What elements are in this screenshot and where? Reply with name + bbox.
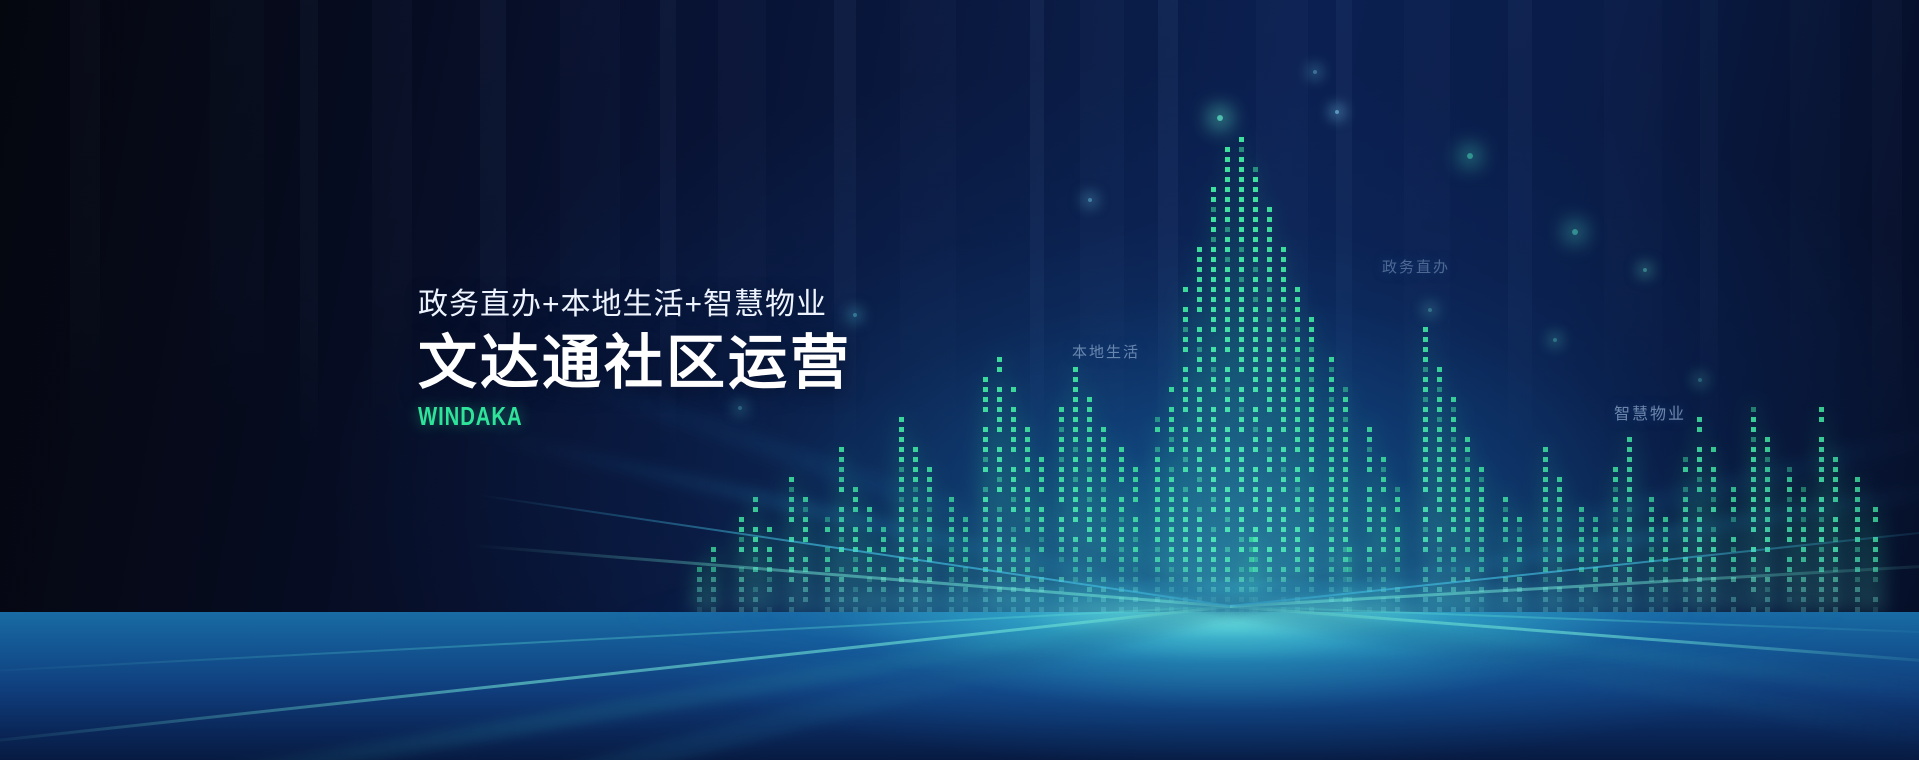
building-dot <box>1211 197 1216 202</box>
building-dot <box>1329 507 1334 512</box>
building-dot <box>1169 507 1174 512</box>
building-dot <box>1011 427 1016 432</box>
building-dot <box>1437 567 1442 572</box>
building-dot <box>1087 507 1092 512</box>
building-dot <box>1697 567 1702 572</box>
building-dot <box>1329 497 1334 502</box>
building-dot <box>1697 527 1702 532</box>
building-dot <box>1101 487 1106 492</box>
building-dot <box>997 527 1002 532</box>
building-dot <box>1543 527 1548 532</box>
building-dot <box>1451 517 1456 522</box>
building-dot <box>1451 497 1456 502</box>
building-dot <box>1451 467 1456 472</box>
building-dot <box>1751 557 1756 562</box>
building-dot <box>1801 537 1806 542</box>
building-dot <box>1253 327 1258 332</box>
building-dot <box>1239 397 1244 402</box>
building-dot <box>1281 467 1286 472</box>
building-dot <box>1059 467 1064 472</box>
building-dot <box>853 547 858 552</box>
building-dot <box>1059 557 1064 562</box>
building-dot <box>1697 457 1702 462</box>
building-dot <box>1267 317 1272 322</box>
building-dot <box>913 547 918 552</box>
building-dot <box>1329 427 1334 432</box>
building-dot <box>997 517 1002 522</box>
building-dot <box>1225 547 1230 552</box>
building-dot <box>1819 527 1824 532</box>
building-dot <box>1451 527 1456 532</box>
building-dot <box>1479 477 1484 482</box>
building-dot <box>767 557 772 562</box>
building-dot <box>1437 467 1442 472</box>
building-dot <box>867 567 872 572</box>
building-dot <box>1239 447 1244 452</box>
building-dot <box>1225 207 1230 212</box>
building-dot <box>1503 557 1508 562</box>
building-dot <box>1765 497 1770 502</box>
building-dot <box>1465 537 1470 542</box>
building-dot <box>927 547 932 552</box>
building-dot <box>1249 557 1254 562</box>
building-dot <box>1087 457 1092 462</box>
building-dot <box>1751 547 1756 552</box>
building-dot <box>1155 467 1160 472</box>
building-dot <box>1169 557 1174 562</box>
building-dot <box>1423 507 1428 512</box>
building-dot <box>1649 527 1654 532</box>
building-dot <box>1183 487 1188 492</box>
building-dot <box>1249 537 1254 542</box>
building-dot <box>983 497 988 502</box>
building-dot <box>997 457 1002 462</box>
building-dot <box>1329 417 1334 422</box>
building-dot <box>1613 517 1618 522</box>
building-dot <box>803 507 808 512</box>
building-dot <box>1329 447 1334 452</box>
building-dot <box>1239 247 1244 252</box>
building-dot <box>1169 417 1174 422</box>
building-dot <box>1543 537 1548 542</box>
building-dot <box>1367 457 1372 462</box>
building-dot <box>1295 367 1300 372</box>
building-dot <box>913 517 918 522</box>
building-dot <box>1437 487 1442 492</box>
building-dot <box>1731 497 1736 502</box>
building-dot <box>1225 557 1230 562</box>
building-dot <box>1819 517 1824 522</box>
building-dot <box>1423 377 1428 382</box>
building-dot <box>1731 487 1736 492</box>
building-dot <box>739 517 744 522</box>
building-dot <box>1073 517 1078 522</box>
building-dot <box>853 537 858 542</box>
building-dot <box>1169 467 1174 472</box>
building-dot <box>1183 307 1188 312</box>
building-dot <box>1267 207 1272 212</box>
building-dot <box>1239 267 1244 272</box>
building-dot <box>1211 497 1216 502</box>
building-dot <box>1267 357 1272 362</box>
building-dot <box>1697 417 1702 422</box>
building-dot <box>1267 527 1272 532</box>
building-dot <box>1557 537 1562 542</box>
building-dot <box>1101 477 1106 482</box>
building-dot <box>1343 417 1348 422</box>
building-dot <box>1649 567 1654 572</box>
building-dot <box>1225 157 1230 162</box>
building-dot <box>1295 417 1300 422</box>
building-dot <box>1011 497 1016 502</box>
building-dot <box>1239 187 1244 192</box>
building-dot <box>927 477 932 482</box>
building-dot <box>1025 497 1030 502</box>
building-dot <box>1073 467 1078 472</box>
building-dot <box>1253 447 1258 452</box>
building-dot <box>899 497 904 502</box>
building-dot <box>1239 147 1244 152</box>
building-dot <box>1517 527 1522 532</box>
building-dot <box>825 557 830 562</box>
building-dot <box>1503 567 1508 572</box>
building-dot <box>1025 457 1030 462</box>
building-dot <box>1663 547 1668 552</box>
building-dot <box>1329 487 1334 492</box>
building-dot <box>1731 557 1736 562</box>
building-dot <box>1039 467 1044 472</box>
building-dot <box>1011 557 1016 562</box>
building-dot <box>1329 527 1334 532</box>
building-dot <box>1267 237 1272 242</box>
building-dot <box>803 497 808 502</box>
building-dot <box>753 547 758 552</box>
building-dot <box>1465 457 1470 462</box>
building-dot <box>1211 427 1216 432</box>
building-dot <box>1253 177 1258 182</box>
building-dot <box>1627 487 1632 492</box>
building-dot <box>1367 487 1372 492</box>
building-dot <box>1819 507 1824 512</box>
building-dot <box>1267 227 1272 232</box>
building-dot <box>1711 467 1716 472</box>
headline-block: 政务直办+本地生活+智慧物业 文达通社区运营 WINDAKA <box>418 290 852 429</box>
building-dot <box>1295 547 1300 552</box>
building-dot <box>1267 437 1272 442</box>
building-dot <box>1613 547 1618 552</box>
building-dot <box>949 537 954 542</box>
building-dot <box>1613 507 1618 512</box>
building-dot <box>1627 437 1632 442</box>
building-dot <box>1011 527 1016 532</box>
building-dot <box>1211 317 1216 322</box>
building-dot <box>1225 397 1230 402</box>
tower-dot-column <box>1306 312 1318 612</box>
building-dot <box>963 537 968 542</box>
building-dot <box>1073 437 1078 442</box>
building-dot <box>1253 207 1258 212</box>
building-dot <box>1833 557 1838 562</box>
building-dot <box>1119 517 1124 522</box>
building-dot <box>1819 457 1824 462</box>
building-dot <box>1343 477 1348 482</box>
tower-dot-column <box>1292 282 1304 612</box>
building-dot <box>739 537 744 542</box>
building-dot <box>1197 407 1202 412</box>
building-dot <box>983 427 988 432</box>
building-dot <box>1329 467 1334 472</box>
building-dot <box>997 357 1002 362</box>
building-dot <box>1801 557 1806 562</box>
building-dot <box>1465 437 1470 442</box>
building-dot <box>1101 547 1106 552</box>
building-dot <box>1697 427 1702 432</box>
building-dot <box>1281 507 1286 512</box>
building-dot <box>839 537 844 542</box>
building-dot <box>1039 457 1044 462</box>
building-dot <box>1039 477 1044 482</box>
building-dot <box>1683 497 1688 502</box>
building-dot <box>1731 507 1736 512</box>
building-dot <box>1517 537 1522 542</box>
building-dot <box>1239 417 1244 422</box>
building-dot <box>825 517 830 522</box>
building-dot <box>1039 507 1044 512</box>
building-dot <box>1557 527 1562 532</box>
tower-dot-column <box>1420 326 1432 612</box>
building-dot <box>1309 467 1314 472</box>
building-dot <box>1101 537 1106 542</box>
building-dot <box>1073 447 1078 452</box>
building-dot <box>1059 517 1064 522</box>
building-dot <box>1267 557 1272 562</box>
building-dot <box>1239 427 1244 432</box>
building-dot <box>1557 547 1562 552</box>
building-dot <box>1267 427 1272 432</box>
building-dot <box>1787 497 1792 502</box>
building-dot <box>1663 557 1668 562</box>
building-dot <box>1711 537 1716 542</box>
building-dot <box>1367 437 1372 442</box>
building-dot <box>1465 567 1470 572</box>
building-dot <box>1819 467 1824 472</box>
building-dot <box>1281 247 1286 252</box>
building-dot <box>1239 217 1244 222</box>
building-dot <box>1073 487 1078 492</box>
building-dot <box>1039 567 1044 572</box>
building-dot <box>913 457 918 462</box>
building-dot <box>1249 567 1254 572</box>
building-dot <box>1819 537 1824 542</box>
building-dot <box>1517 547 1522 552</box>
building-dot <box>1543 477 1548 482</box>
building-dot <box>1627 507 1632 512</box>
building-dot <box>1211 477 1216 482</box>
building-dot <box>1225 277 1230 282</box>
building-dot <box>839 457 844 462</box>
building-dot <box>1801 517 1806 522</box>
building-dot <box>1225 457 1230 462</box>
banner-subtitle: 政务直办+本地生活+智慧物业 <box>418 290 852 320</box>
building-dot <box>1465 477 1470 482</box>
building-dot <box>1155 567 1160 572</box>
building-dot <box>899 427 904 432</box>
building-dot <box>997 557 1002 562</box>
building-dot <box>1011 477 1016 482</box>
building-dot <box>949 547 954 552</box>
building-dot <box>1025 517 1030 522</box>
building-dot <box>697 567 702 572</box>
building-dot <box>1239 387 1244 392</box>
building-dot <box>1649 557 1654 562</box>
building-dot <box>1479 497 1484 502</box>
building-dot <box>1627 527 1632 532</box>
building-dot <box>753 557 758 562</box>
building-dot <box>927 507 932 512</box>
building-dot <box>1011 387 1016 392</box>
building-dot <box>1557 507 1562 512</box>
building-dot <box>1423 367 1428 372</box>
building-dot <box>1833 457 1838 462</box>
building-dot <box>1073 557 1078 562</box>
building-dot <box>1039 527 1044 532</box>
building-dot <box>1059 427 1064 432</box>
building-dot <box>1309 457 1314 462</box>
building-dot <box>1197 287 1202 292</box>
building-dot <box>1211 207 1216 212</box>
building-dot <box>1543 487 1548 492</box>
building-dot <box>1787 527 1792 532</box>
building-dot <box>839 547 844 552</box>
building-dot <box>867 517 872 522</box>
building-dot <box>983 567 988 572</box>
building-dot <box>899 507 904 512</box>
building-dot <box>1423 567 1428 572</box>
building-dot <box>1267 447 1272 452</box>
building-dot <box>1281 367 1286 372</box>
building-dot <box>1329 367 1334 372</box>
building-dot <box>1197 417 1202 422</box>
building-dot <box>1267 387 1272 392</box>
building-dot <box>1309 417 1314 422</box>
building-dot <box>1239 337 1244 342</box>
building-dot <box>1731 517 1736 522</box>
building-dot <box>1801 527 1806 532</box>
building-dot <box>1239 237 1244 242</box>
building-dot <box>1437 437 1442 442</box>
building-dot <box>1649 497 1654 502</box>
building-dot <box>949 557 954 562</box>
building-dot <box>1267 277 1272 282</box>
building-dot <box>1253 277 1258 282</box>
building-dot <box>1627 477 1632 482</box>
building-dot <box>1451 437 1456 442</box>
building-dot <box>1211 327 1216 332</box>
building-dot <box>1683 487 1688 492</box>
building-dot <box>1765 517 1770 522</box>
building-dot <box>1239 477 1244 482</box>
building-dot <box>1579 527 1584 532</box>
building-dot <box>1197 567 1202 572</box>
building-dot <box>1819 557 1824 562</box>
building-dot <box>1437 447 1442 452</box>
building-dot <box>1011 537 1016 542</box>
building-dot <box>1437 397 1442 402</box>
building-dot <box>949 517 954 522</box>
building-dot <box>1225 327 1230 332</box>
building-dot <box>1239 507 1244 512</box>
building-dot <box>1059 417 1064 422</box>
building-dot <box>1211 537 1216 542</box>
building-dot <box>1295 507 1300 512</box>
building-dot <box>1267 247 1272 252</box>
building-dot <box>1225 177 1230 182</box>
building-dot <box>767 567 772 572</box>
building-dot <box>1801 487 1806 492</box>
building-dot <box>1087 567 1092 572</box>
building-dot <box>1367 557 1372 562</box>
building-dot <box>1101 517 1106 522</box>
building-dot <box>1211 387 1216 392</box>
building-dot <box>983 437 988 442</box>
building-dot <box>1503 537 1508 542</box>
building-dot <box>1787 507 1792 512</box>
building-dot <box>1101 527 1106 532</box>
building-dot <box>1479 507 1484 512</box>
building-dot <box>1253 317 1258 322</box>
building-dot <box>1833 517 1838 522</box>
building-dot <box>1437 557 1442 562</box>
building-dot <box>1025 557 1030 562</box>
building-dot <box>1855 477 1860 482</box>
building-dot <box>1329 407 1334 412</box>
building-dot <box>839 567 844 572</box>
building-dot <box>1253 357 1258 362</box>
building-dot <box>997 427 1002 432</box>
building-dot <box>1295 307 1300 312</box>
building-dot <box>1295 397 1300 402</box>
building-dot <box>767 527 772 532</box>
building-dot <box>1451 447 1456 452</box>
building-dot <box>983 377 988 382</box>
building-dot <box>1239 227 1244 232</box>
building-dot <box>1059 547 1064 552</box>
building-dot <box>1239 467 1244 472</box>
building-dot <box>1873 547 1878 552</box>
building-dot <box>1267 547 1272 552</box>
building-dot <box>1073 547 1078 552</box>
building-dot <box>1267 377 1272 382</box>
building-dot <box>1479 537 1484 542</box>
building-dot <box>1281 527 1286 532</box>
building-dot <box>1225 487 1230 492</box>
building-dot <box>1281 397 1286 402</box>
building-dot <box>983 547 988 552</box>
building-dot <box>997 397 1002 402</box>
building-dot <box>1183 437 1188 442</box>
building-dot <box>1239 487 1244 492</box>
building-dot <box>1267 517 1272 522</box>
building-dot <box>1683 557 1688 562</box>
building-dot <box>1087 527 1092 532</box>
building-dot <box>1819 547 1824 552</box>
tower-dot-column <box>1166 384 1178 612</box>
building-dot <box>1423 427 1428 432</box>
building-dot <box>1155 427 1160 432</box>
building-dot <box>1663 517 1668 522</box>
building-dot <box>1073 497 1078 502</box>
building-dot <box>1211 277 1216 282</box>
